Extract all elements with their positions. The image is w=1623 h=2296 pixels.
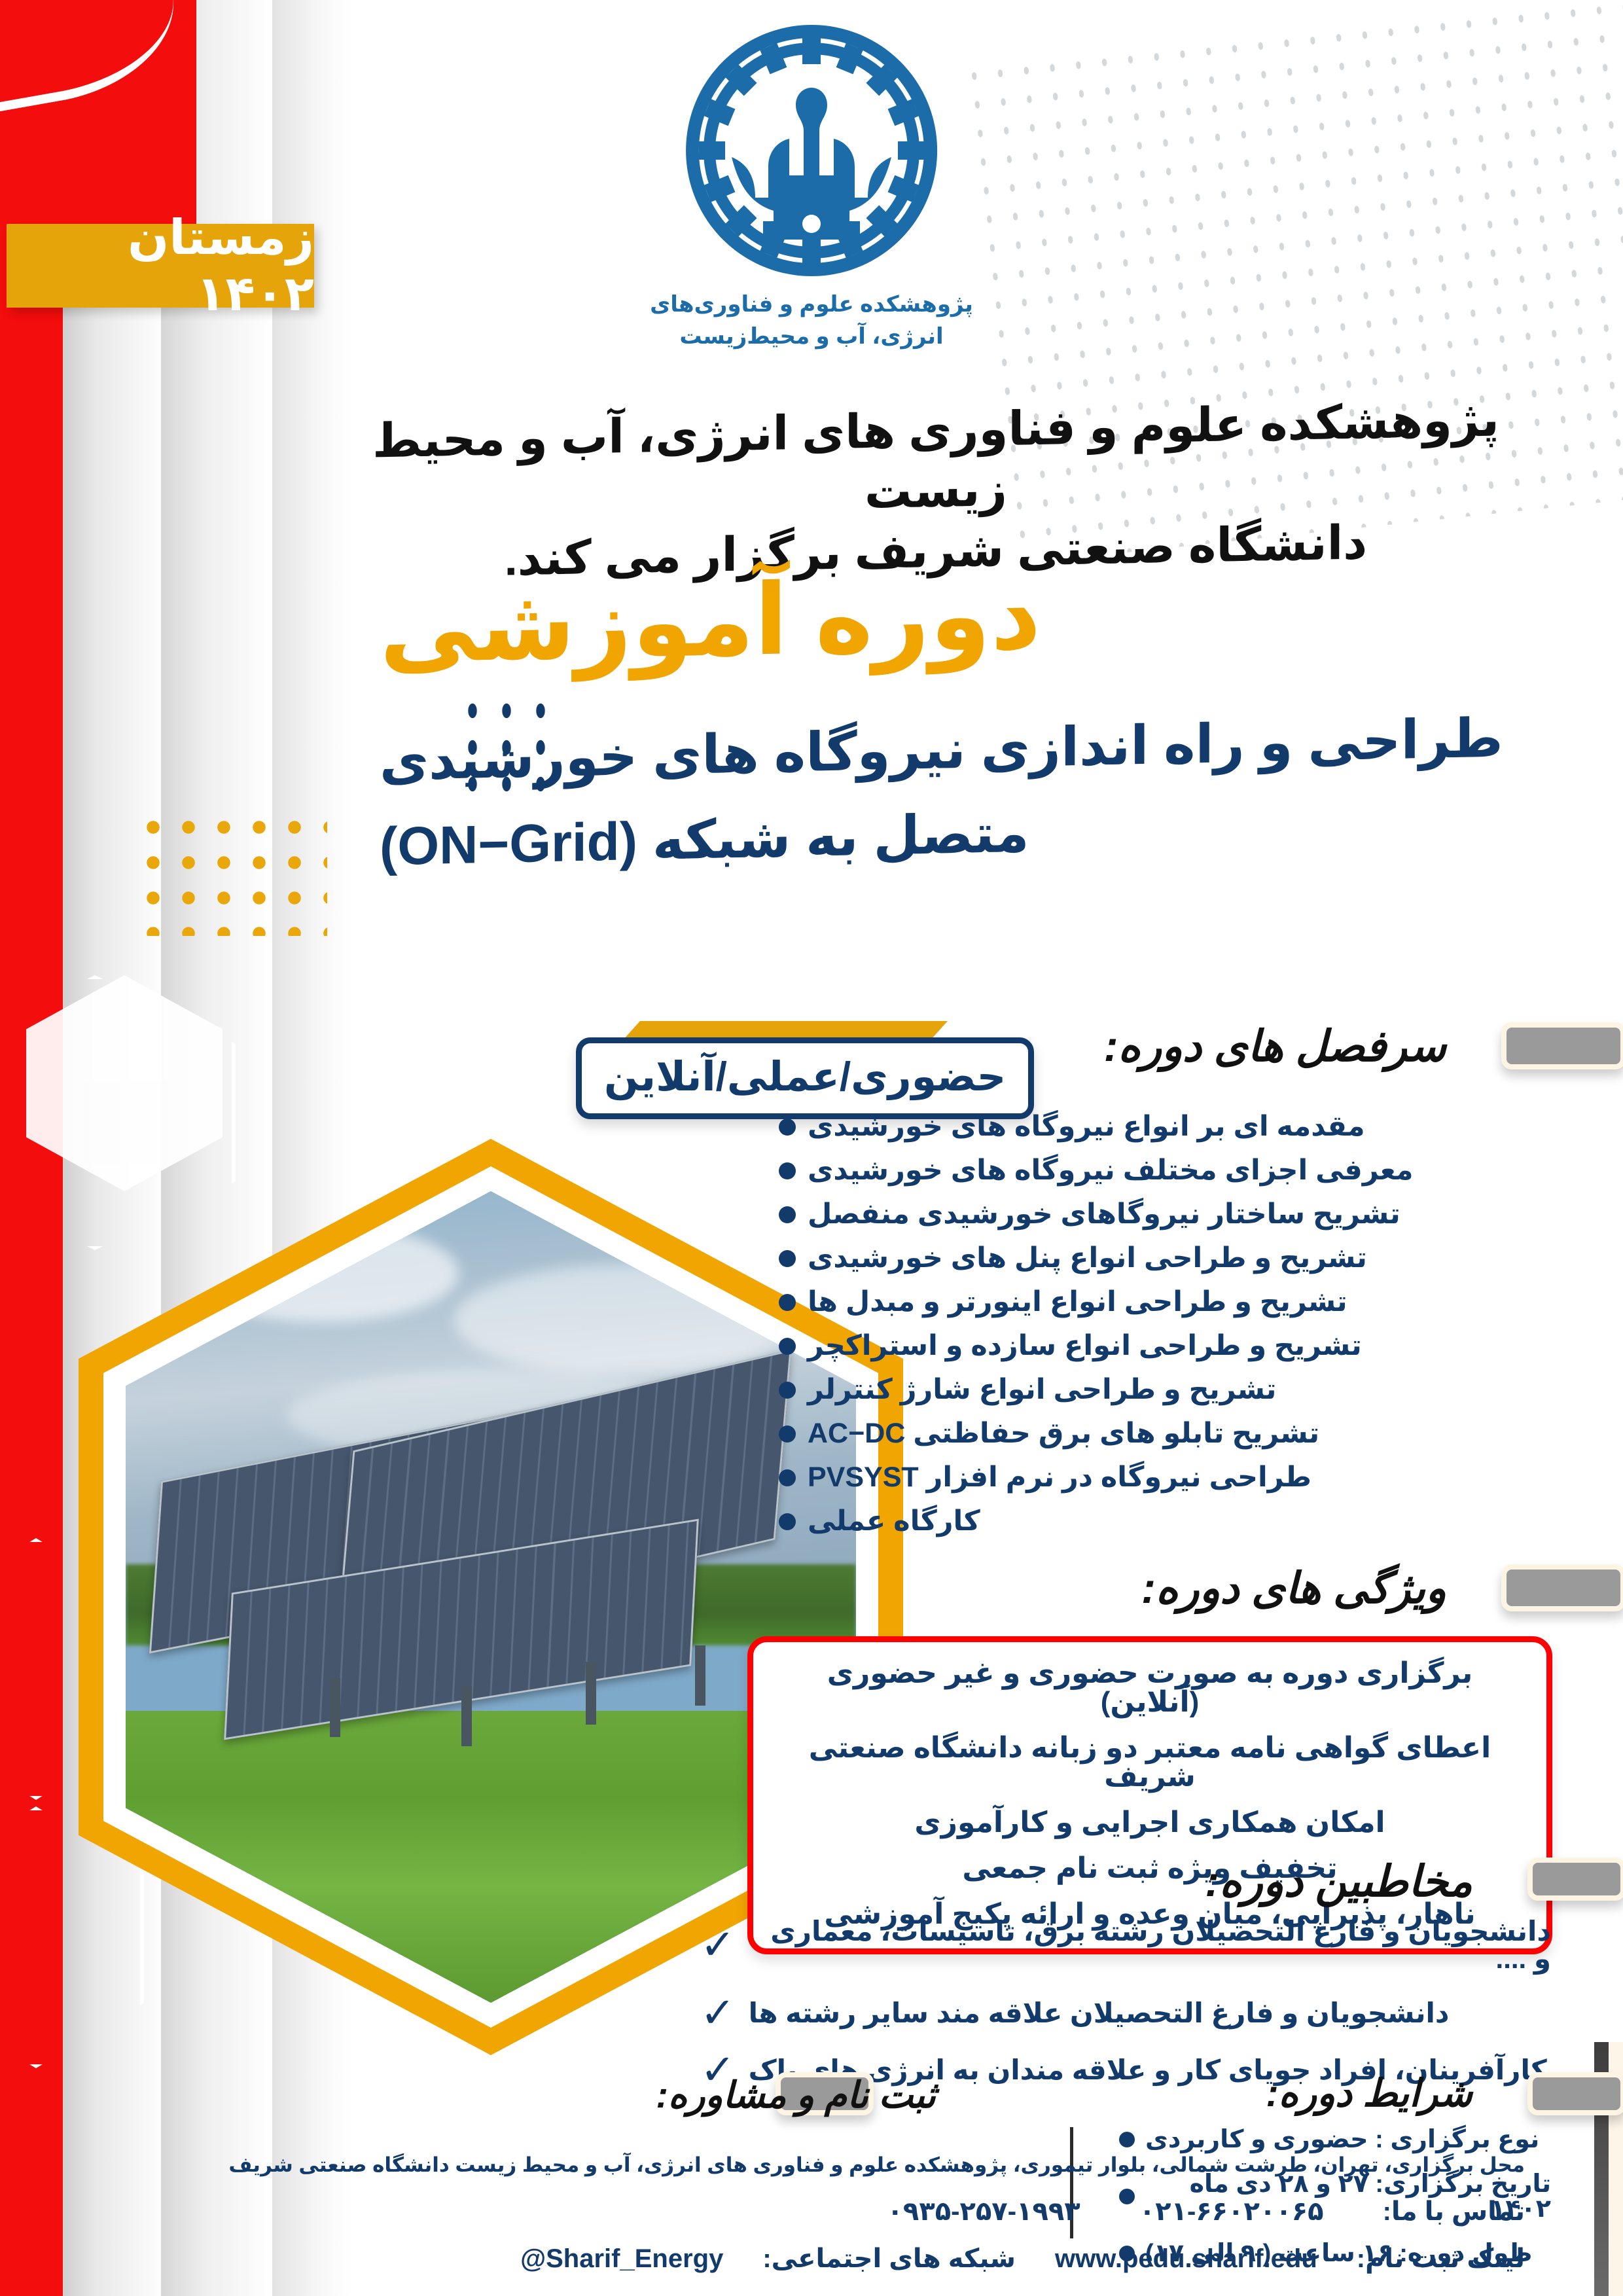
feature-item: امکان همکاری اجرایی و کارآموزی: [776, 1808, 1524, 1837]
sharif-university-emblem-icon: [681, 20, 942, 281]
syllabus-item: تشریح و طراحی انواع شارژ کنترلر: [779, 1376, 1551, 1404]
panel-support-leg: [586, 1662, 596, 1725]
conditions-section-tab: [1527, 2072, 1623, 2115]
check-icon: ✓: [700, 1996, 736, 2030]
syllabus-item-label: تشریح ساختار نیروگاهای خورشیدی منفصل: [808, 1200, 1400, 1229]
check-icon: ✓: [700, 1928, 736, 1962]
social-handle-link[interactable]: @Sharif_Energy: [520, 2244, 723, 2274]
feature-item: برگزاری دوره به صورت حضوری و غیر حضوری (…: [776, 1659, 1524, 1717]
syllabus-item: مقدمه ای بر انواع نیروگاه های خورشیدی: [779, 1113, 1551, 1141]
dot-pattern-gold: [137, 812, 327, 936]
syllabus-item: تشریح و طراحی انواع سازده و استراکچر: [779, 1332, 1551, 1360]
phone-number-2[interactable]: ۰۹۳۵-۲۵۷-۱۹۹۳: [887, 2197, 1080, 2227]
audience-item: دانشجویان و فارغ التحصیلان رشته برق، تاس…: [700, 1918, 1551, 1973]
syllabus-list: مقدمه ای بر انواع نیروگاه های خورشیدی مع…: [779, 1113, 1551, 1551]
bullet-icon: [779, 1119, 796, 1136]
solar-plant-photo: [126, 1191, 856, 2003]
registration-website-link[interactable]: www.pedu.sharif.edu: [1055, 2244, 1317, 2274]
announcement-line-1: پژوهشکده علوم و فناوری های انرژی، آب و م…: [314, 389, 1558, 533]
social-label: شبکه های اجتماعی:: [762, 2244, 1016, 2274]
syllabus-item-label: معرفی اجزای مختلف نیروگاه های خورشیدی: [808, 1157, 1413, 1185]
syllabus-item: تشریح تابلو های برق حفاظتی AC−DC: [779, 1420, 1551, 1448]
bullet-icon: [779, 1426, 796, 1443]
syllabus-item-label: تشریح تابلو های برق حفاظتی AC−DC: [808, 1420, 1319, 1448]
syllabus-item: تشریح و طراحی انواع اینورتر و مبدل ها: [779, 1288, 1551, 1316]
bullet-icon: [779, 1513, 796, 1530]
syllabus-item: طراحی نیروگاه در نرم افزار PVSYST: [779, 1463, 1551, 1492]
bullet-icon: [779, 1294, 796, 1311]
institute-name-line-1: پژوهشکده علوم و فناوری‌های: [635, 289, 988, 321]
red-swoosh-decoration: [0, 0, 188, 116]
phone-number-1[interactable]: ۰۲۱-۶۶۰۲۰۰۶۵: [1139, 2197, 1324, 2227]
condition-item-label: نوع برگزاری : حضوری و کاربردی: [1145, 2127, 1539, 2152]
institute-logo-block: پژوهشکده علوم و فناوری‌های انرژی، آب و م…: [635, 20, 988, 353]
bullet-icon: [779, 1382, 796, 1399]
panel-support-leg: [461, 1686, 472, 1746]
conditions-heading: شرایط دوره:: [1266, 2071, 1472, 2115]
syllabus-heading: سرفصل های دوره:: [1104, 1021, 1446, 1071]
condition-item: نوع برگزاری : حضوری و کاربردی: [1119, 2127, 1551, 2152]
bullet-icon: [1119, 2132, 1135, 2147]
bullet-icon: [779, 1206, 796, 1223]
institute-name: پژوهشکده علوم و فناوری‌های انرژی، آب و م…: [635, 289, 988, 353]
poster-canvas: زمستان ۱۴۰۲: [0, 0, 1623, 2296]
contact-label: تماس با ما:: [1383, 2197, 1525, 2227]
syllabus-item-label: مقدمه ای بر انواع نیروگاه های خورشیدی: [808, 1113, 1365, 1141]
syllabus-item-label: تشریح و طراحی انواع پنل های خورشیدی: [808, 1244, 1367, 1272]
features-section-tab: [1501, 1564, 1623, 1611]
audience-item: دانشجویان و فارغ التحصیلان علاقه مند سای…: [700, 1996, 1551, 2030]
syllabus-item: کارگاه عملی: [779, 1507, 1551, 1535]
links-row: لینک ثبت نام: www.pedu.sharif.edu شبکه ه…: [98, 2244, 1525, 2274]
syllabus-item-label: تشریح و طراحی انواع شارژ کنترلر: [808, 1376, 1276, 1404]
audience-heading: مخاطبین دوره:: [1205, 1856, 1472, 1907]
syllabus-item-label: طراحی نیروگاه در نرم افزار PVSYST: [808, 1463, 1311, 1492]
contact-row: تماس با ما: ۰۲۱-۶۶۰۲۰۰۶۵ ۰۹۳۵-۲۵۷-۱۹۹۳: [98, 2197, 1525, 2227]
syllabus-item-label: تشریح و طراحی انواع اینورتر و مبدل ها: [808, 1288, 1347, 1316]
delivery-mode-badge: حضوری/عملی/آنلاین: [576, 1037, 1034, 1119]
registration-link-label: لینک ثبت نام:: [1357, 2244, 1525, 2274]
panel-support-leg: [695, 1645, 705, 1706]
panel-support-leg: [330, 1678, 340, 1737]
feature-item: اعطای گواهی نامه معتبر دو زبانه دانشگاه …: [776, 1734, 1524, 1791]
photo-cloud: [454, 1265, 794, 1376]
syllabus-item-label: تشریح و طراحی انواع سازده و استراکچر: [808, 1332, 1362, 1360]
syllabus-item-label: کارگاه عملی: [808, 1507, 980, 1535]
registration-heading: ثبت نام و مشاوره:: [656, 2073, 936, 2117]
season-banner: زمستان ۱۴۰۲: [7, 224, 314, 308]
audience-item-label: دانشجویان و فارغ التحصیلان علاقه مند سای…: [749, 2000, 1450, 2027]
features-list: برگزاری دوره به صورت حضوری و غیر حضوری (…: [747, 1636, 1552, 1954]
features-heading: ویژگی های دوره:: [1141, 1563, 1446, 1613]
syllabus-section-tab: [1501, 1022, 1623, 1069]
venue-address: محل برگزاری، تهران، طرشت شمالی، بلوار تی…: [98, 2153, 1525, 2177]
audience-section-tab: [1527, 1857, 1623, 1901]
bullet-icon: [779, 1338, 796, 1355]
syllabus-item: معرفی اجزای مختلف نیروگاه های خورشیدی: [779, 1157, 1551, 1185]
audience-item-label: دانشجویان و فارغ التحصیلان رشته برق، تاس…: [749, 1918, 1551, 1973]
season-label: زمستان ۱۴۰۲: [7, 209, 314, 322]
syllabus-item: تشریح ساختار نیروگاهای خورشیدی منفصل: [779, 1200, 1551, 1229]
bullet-icon: [779, 1250, 796, 1267]
bullet-icon: [779, 1469, 796, 1486]
institute-name-line-2: انرژی، آب و محیط‌زیست: [635, 321, 988, 353]
syllabus-item: تشریح و طراحی انواع پنل های خورشیدی: [779, 1244, 1551, 1272]
bullet-icon: [779, 1162, 796, 1179]
